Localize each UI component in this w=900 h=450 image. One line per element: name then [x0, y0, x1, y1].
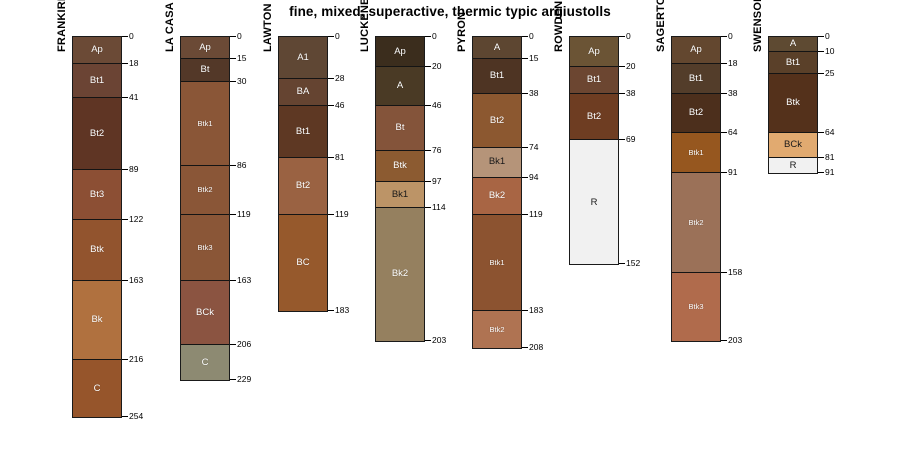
depth-tick	[122, 359, 128, 360]
horizon-label: Bk	[91, 315, 102, 325]
horizon-label: Bt1	[689, 74, 703, 84]
horizon-segment[interactable]: Bk1	[473, 148, 521, 178]
depth-tick	[230, 379, 236, 380]
depth-label: 183	[529, 306, 543, 315]
depth-tick	[522, 347, 528, 348]
profile-name-label: FRANKIRK	[56, 0, 68, 52]
depth-tick	[425, 66, 431, 67]
depth-tick	[522, 58, 528, 59]
depth-label: 38	[626, 89, 635, 98]
horizon-label: Btk2	[688, 219, 703, 227]
depth-tick	[818, 36, 824, 37]
depth-tick	[619, 263, 625, 264]
depth-label: 15	[529, 54, 538, 63]
profile-column: ApBt1Bt2R	[569, 36, 619, 265]
horizon-segment[interactable]: Bt1	[73, 64, 121, 98]
depth-tick	[328, 310, 334, 311]
depth-label: 86	[237, 161, 246, 170]
depth-label: 81	[335, 153, 344, 162]
depth-label: 38	[728, 89, 737, 98]
horizon-segment[interactable]: Btk1	[181, 82, 229, 166]
depth-tick	[818, 73, 824, 74]
horizon-label: Bt	[396, 123, 405, 133]
horizon-label: Bt1	[490, 71, 504, 81]
horizon-segment[interactable]: Btk	[376, 151, 424, 182]
profile-column: ApABtBtkBk1Bk2	[375, 36, 425, 342]
profile-column: ApBt1Bt2Btk1Btk2Btk3	[671, 36, 721, 342]
horizon-segment[interactable]: Btk1	[672, 133, 720, 173]
horizon-segment[interactable]: BA	[279, 79, 327, 106]
horizon-label: Ap	[690, 45, 702, 55]
horizon-segment[interactable]: A	[473, 37, 521, 59]
horizon-segment[interactable]: Bt1	[769, 52, 817, 74]
depth-label: 25	[825, 69, 834, 78]
depth-label: 64	[825, 128, 834, 137]
depth-label: 91	[825, 168, 834, 177]
depth-tick	[721, 340, 727, 341]
horizon-segment[interactable]: Bt1	[672, 64, 720, 94]
depth-label: 41	[129, 93, 138, 102]
profile-name-label: LAWTON	[262, 3, 274, 52]
depth-label: 206	[237, 340, 251, 349]
depth-tick	[230, 58, 236, 59]
depth-label: 122	[129, 215, 143, 224]
depth-tick	[425, 207, 431, 208]
horizon-label: Btk	[786, 98, 800, 108]
depth-label: 10	[825, 47, 834, 56]
chart-title: fine, mixed, superactive, thermic typic …	[0, 4, 900, 19]
horizon-segment[interactable]: Ap	[570, 37, 618, 67]
horizon-label: BCk	[784, 140, 802, 150]
depth-label: 18	[728, 59, 737, 68]
horizon-label: Bt	[201, 65, 210, 75]
soil-profile-chart: fine, mixed, superactive, thermic typic …	[0, 0, 900, 450]
horizon-label: Ap	[394, 47, 406, 57]
horizon-label: R	[591, 198, 598, 208]
horizon-segment[interactable]: Bk2	[376, 208, 424, 341]
depth-label: 64	[728, 128, 737, 137]
depth-label: 0	[432, 32, 437, 41]
horizon-segment[interactable]: Ap	[73, 37, 121, 64]
depth-tick	[425, 340, 431, 341]
depth-tick	[818, 172, 824, 173]
depth-label: 114	[432, 203, 446, 212]
depth-tick	[328, 214, 334, 215]
depth-tick	[721, 93, 727, 94]
depth-label: 46	[335, 101, 344, 110]
horizon-segment[interactable]: Bt2	[473, 94, 521, 148]
profile-name-label: SWENSON	[752, 0, 764, 52]
depth-tick	[328, 157, 334, 158]
horizon-segment[interactable]: A	[769, 37, 817, 52]
depth-tick	[619, 139, 625, 140]
horizon-label: Bt1	[587, 75, 601, 85]
profile-column: ABt1Bt2Bk1Bk2Btk1Btk2	[472, 36, 522, 349]
depth-tick	[122, 63, 128, 64]
horizon-label: Btk	[90, 245, 104, 255]
horizon-label: Bk2	[489, 191, 505, 201]
depth-label: 97	[432, 177, 441, 186]
depth-label: 152	[626, 259, 640, 268]
profile-name-label: PYRON	[456, 12, 468, 52]
horizon-label: Btk3	[197, 244, 212, 252]
depth-tick	[522, 214, 528, 215]
depth-label: 0	[237, 32, 242, 41]
horizon-label: A	[397, 81, 403, 91]
depth-tick	[122, 169, 128, 170]
horizon-segment[interactable]: Btk3	[672, 273, 720, 340]
horizon-segment[interactable]: Ap	[181, 37, 229, 59]
profile-column: A1BABt1Bt2BC	[278, 36, 328, 312]
depth-tick	[721, 272, 727, 273]
horizon-label: Bt1	[786, 58, 800, 68]
depth-label: 163	[129, 276, 143, 285]
depth-label: 18	[129, 59, 138, 68]
depth-label: 0	[129, 32, 134, 41]
depth-tick	[721, 132, 727, 133]
horizon-label: A	[790, 39, 796, 49]
depth-tick	[619, 36, 625, 37]
horizon-label: BCk	[196, 308, 214, 318]
depth-tick	[522, 93, 528, 94]
depth-tick	[122, 416, 128, 417]
horizon-segment[interactable]: Bt1	[279, 106, 327, 158]
horizon-segment[interactable]: Btk2	[672, 173, 720, 273]
horizon-segment[interactable]: Btk	[769, 74, 817, 132]
depth-tick	[522, 177, 528, 178]
horizon-segment[interactable]: C	[181, 345, 229, 379]
horizon-label: Bt1	[296, 127, 310, 137]
horizon-segment[interactable]: Bk2	[473, 178, 521, 215]
horizon-segment[interactable]: BCk	[769, 133, 817, 158]
depth-tick	[328, 105, 334, 106]
horizon-segment[interactable]: Bt2	[570, 94, 618, 140]
depth-label: 119	[335, 210, 349, 219]
horizon-segment[interactable]: A	[376, 67, 424, 106]
depth-tick	[818, 157, 824, 158]
horizon-label: Bk1	[489, 157, 505, 167]
horizon-label: Ap	[199, 43, 211, 53]
depth-tick	[230, 165, 236, 166]
depth-tick	[818, 132, 824, 133]
depth-label: 89	[129, 165, 138, 174]
depth-label: 76	[432, 146, 441, 155]
horizon-label: Bk2	[392, 269, 408, 279]
depth-tick	[522, 36, 528, 37]
horizon-segment[interactable]: Btk2	[181, 166, 229, 215]
horizon-segment[interactable]: R	[769, 158, 817, 173]
horizon-segment[interactable]: Bt	[181, 59, 229, 81]
horizon-segment[interactable]: Btk2	[473, 311, 521, 348]
horizon-label: Btk1	[197, 120, 212, 128]
depth-label: 15	[237, 54, 246, 63]
horizon-label: Btk1	[489, 259, 504, 267]
depth-tick	[425, 150, 431, 151]
horizon-segment[interactable]: R	[570, 140, 618, 264]
depth-tick	[230, 81, 236, 82]
depth-tick	[328, 36, 334, 37]
depth-label: 0	[335, 32, 340, 41]
depth-tick	[721, 172, 727, 173]
depth-tick	[425, 105, 431, 106]
depth-label: 203	[728, 336, 742, 345]
horizon-label: Btk2	[489, 326, 504, 334]
horizon-label: Bt2	[689, 108, 703, 118]
horizon-label: BA	[297, 87, 310, 97]
depth-label: 208	[529, 343, 543, 352]
horizon-label: Btk3	[688, 303, 703, 311]
depth-label: 20	[432, 62, 441, 71]
horizon-label: Btk	[393, 161, 407, 171]
depth-tick	[122, 280, 128, 281]
depth-tick	[122, 219, 128, 220]
depth-label: 74	[529, 143, 538, 152]
horizon-label: Bt2	[587, 112, 601, 122]
horizon-segment[interactable]: Ap	[672, 37, 720, 64]
depth-label: 30	[237, 77, 246, 86]
horizon-label: Bt2	[90, 129, 104, 139]
horizon-segment[interactable]: Bt	[376, 106, 424, 151]
profile-name-label: LUCKENBACH	[359, 0, 371, 52]
horizon-label: Bt2	[296, 181, 310, 191]
depth-label: 0	[626, 32, 631, 41]
depth-label: 163	[237, 276, 251, 285]
horizon-label: Bt3	[90, 190, 104, 200]
horizon-segment[interactable]: Btk	[73, 220, 121, 281]
horizon-segment[interactable]: BC	[279, 215, 327, 311]
depth-tick	[425, 181, 431, 182]
depth-tick	[721, 63, 727, 64]
horizon-label: Ap	[588, 47, 600, 57]
depth-label: 28	[335, 74, 344, 83]
horizon-label: R	[790, 161, 797, 171]
depth-tick	[619, 93, 625, 94]
depth-label: 0	[825, 32, 830, 41]
depth-label: 69	[626, 135, 635, 144]
depth-tick	[230, 344, 236, 345]
depth-label: 38	[529, 89, 538, 98]
profile-column: ApBtBtk1Btk2Btk3BCkC	[180, 36, 230, 381]
horizon-label: Bt1	[90, 76, 104, 86]
depth-label: 183	[335, 306, 349, 315]
depth-tick	[230, 36, 236, 37]
profile-name-label: ROWDEN	[553, 1, 565, 52]
depth-tick	[122, 97, 128, 98]
depth-label: 158	[728, 268, 742, 277]
profile-column: ABt1BtkBCkR	[768, 36, 818, 174]
horizon-segment[interactable]: Bk	[73, 281, 121, 360]
horizon-segment[interactable]: Bt3	[73, 170, 121, 219]
depth-label: 46	[432, 101, 441, 110]
profile-name-label: SAGERTON	[655, 0, 667, 52]
horizon-label: A1	[297, 53, 309, 63]
depth-label: 119	[529, 210, 543, 219]
depth-tick	[230, 214, 236, 215]
depth-tick	[619, 66, 625, 67]
depth-tick	[425, 36, 431, 37]
depth-tick	[122, 36, 128, 37]
horizon-segment[interactable]: Bt2	[672, 94, 720, 133]
horizon-label: Bk1	[392, 190, 408, 200]
horizon-label: Bt2	[490, 116, 504, 126]
depth-label: 20	[626, 62, 635, 71]
horizon-label: Btk2	[197, 186, 212, 194]
depth-label: 0	[728, 32, 733, 41]
depth-label: 91	[728, 168, 737, 177]
horizon-segment[interactable]: Btk1	[473, 215, 521, 311]
depth-label: 254	[129, 412, 143, 421]
depth-label: 203	[432, 336, 446, 345]
horizon-label: A	[494, 43, 500, 53]
depth-tick	[721, 36, 727, 37]
depth-tick	[522, 147, 528, 148]
horizon-segment[interactable]: Btk3	[181, 215, 229, 281]
profile-column: ApBt1Bt2Bt3BtkBkC	[72, 36, 122, 418]
depth-tick	[818, 51, 824, 52]
depth-tick	[328, 78, 334, 79]
horizon-label: Ap	[91, 45, 103, 55]
horizon-segment[interactable]: A1	[279, 37, 327, 79]
horizon-label: C	[202, 358, 209, 368]
depth-label: 216	[129, 355, 143, 364]
depth-label: 229	[237, 375, 251, 384]
horizon-segment[interactable]: Bt1	[570, 67, 618, 94]
depth-label: 0	[529, 32, 534, 41]
depth-tick	[522, 310, 528, 311]
depth-label: 94	[529, 173, 538, 182]
horizon-label: C	[94, 384, 101, 394]
horizon-segment[interactable]: C	[73, 360, 121, 417]
horizon-segment[interactable]: Bk1	[376, 182, 424, 207]
horizon-segment[interactable]: Bt2	[279, 158, 327, 215]
profile-name-label: LA CASA	[164, 2, 176, 52]
horizon-label: Btk1	[688, 149, 703, 157]
horizon-segment[interactable]: Ap	[376, 37, 424, 67]
horizon-label: BC	[296, 258, 309, 268]
horizon-segment[interactable]: BCk	[181, 281, 229, 345]
depth-label: 81	[825, 153, 834, 162]
horizon-segment[interactable]: Bt2	[73, 98, 121, 170]
horizon-segment[interactable]: Bt1	[473, 59, 521, 93]
depth-tick	[230, 280, 236, 281]
depth-label: 119	[237, 210, 251, 219]
